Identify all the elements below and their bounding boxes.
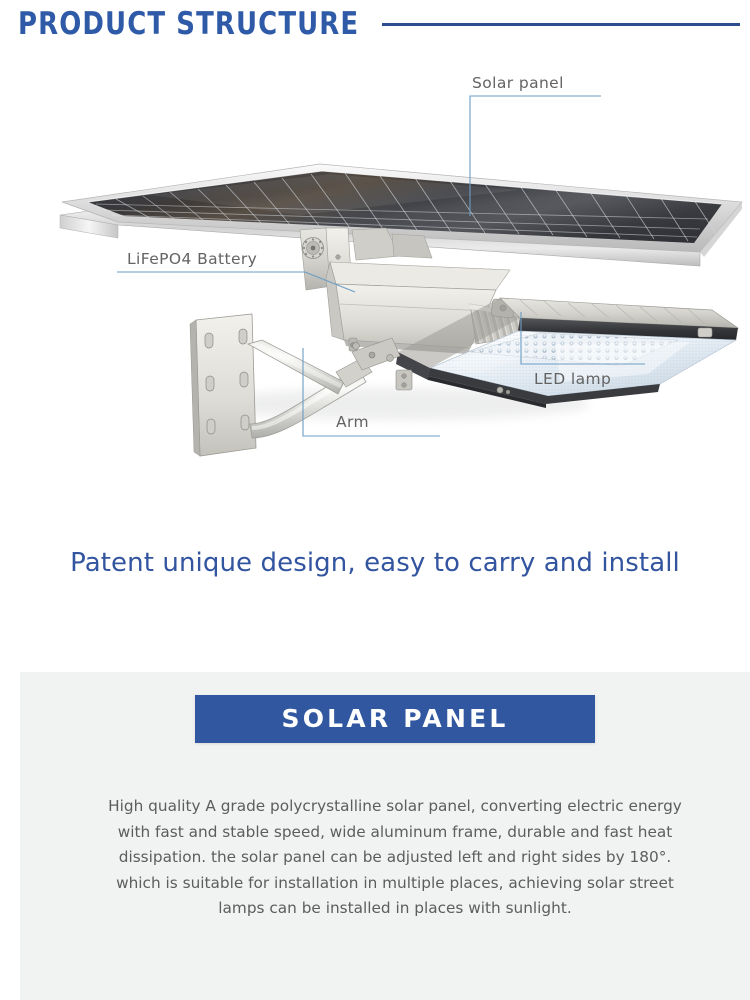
tagline: Patent unique design, easy to carry and … — [0, 548, 750, 578]
product-structure-section: PRODUCT STRUCTURE — [0, 0, 750, 672]
page-title: PRODUCT STRUCTURE — [18, 7, 359, 41]
callout-label-led-lamp: LED lamp — [534, 370, 611, 388]
section-banner: SOLAR PANEL — [195, 695, 595, 743]
section-header: PRODUCT STRUCTURE — [0, 0, 750, 52]
product-photo — [0, 52, 750, 512]
banner-title: SOLAR PANEL — [195, 695, 595, 743]
solar-panel-panel: SOLAR PANEL High quality A grade polycry… — [20, 672, 750, 1000]
solar-panel-section: SOLAR PANEL High quality A grade polycry… — [0, 672, 750, 1000]
section-description: High quality A grade polycrystalline sol… — [105, 794, 685, 922]
title-divider-rule — [382, 23, 740, 26]
callout-label-solar-panel: Solar panel — [472, 74, 564, 92]
callout-label-arm: Arm — [336, 413, 369, 431]
callout-label-battery: LiFePO4 Battery — [127, 250, 257, 268]
